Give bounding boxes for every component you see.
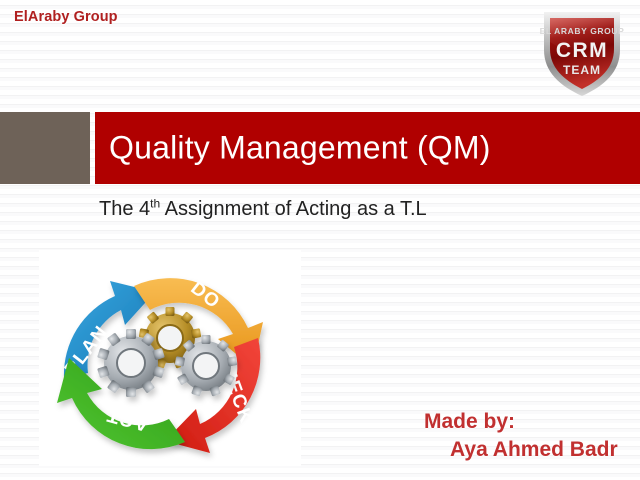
credit-author-name: Aya Ahmed Badr <box>424 436 618 464</box>
crm-team-shield-logo: EL ARABY GROUP CRM TEAM <box>536 4 628 100</box>
subtitle-postfix: Assignment of Acting as a T.L <box>160 198 426 220</box>
page-title: Quality Management (QM) <box>109 130 491 167</box>
subtitle-prefix: The 4 <box>99 198 150 220</box>
title-accent-block <box>0 112 90 184</box>
logo-main-text: CRM <box>556 39 608 62</box>
title-bar: Quality Management (QM) <box>95 112 640 184</box>
presentation-slide: ElAraby Group <box>0 0 640 480</box>
subtitle-ordinal-suffix: th <box>150 196 160 210</box>
credit-made-by-label: Made by: <box>424 410 515 433</box>
logo-bottom-text: TEAM <box>563 63 601 77</box>
author-credit: Made by: Aya Ahmed Badr <box>424 408 618 463</box>
header-brand-label: ElAraby Group <box>14 9 118 25</box>
subtitle: The 4th Assignment of Acting as a T.L <box>99 198 427 221</box>
logo-top-text: EL ARABY GROUP <box>540 26 625 36</box>
pdca-cycle-image: PLAN DO CHECK ACT <box>39 250 301 466</box>
